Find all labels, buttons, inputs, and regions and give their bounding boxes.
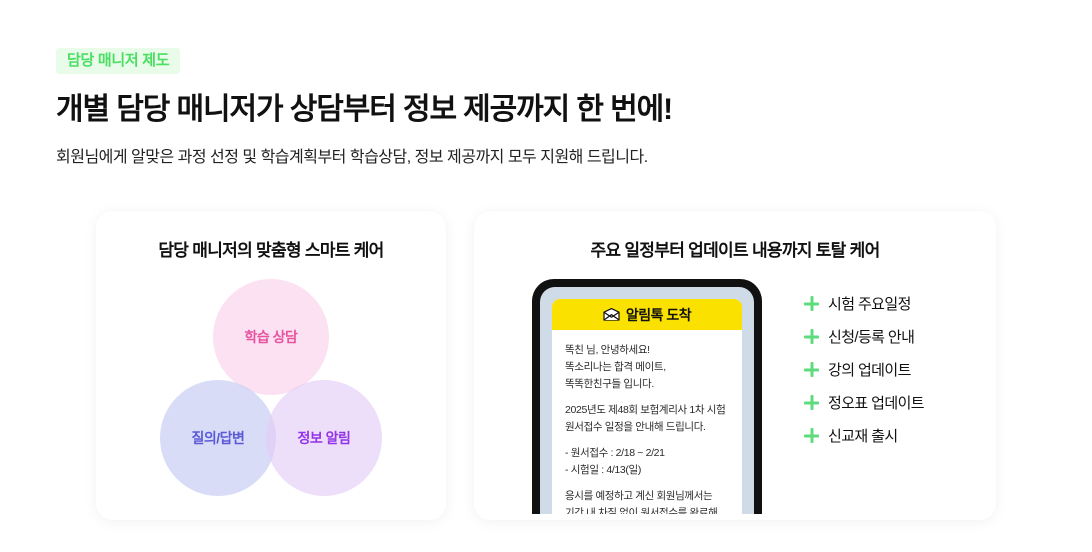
venn-circle-consulting: 학습 상담 <box>213 279 329 395</box>
alimtalk-greeting-line: 똑똑한친구들 입니다. <box>565 376 729 393</box>
list-item: 신교재 출시 <box>804 425 924 446</box>
feature-list: 시험 주요일정 신청/등록 안내 강의 업데이트 정오표 업데이트 <box>804 293 924 446</box>
alimtalk-title: 알림톡 도착 <box>626 305 691 325</box>
alimtalk-closing: 응시를 예정하고 계신 회원님께서는 기간 내 차질 없이 원서접수를 완료해 … <box>565 488 729 514</box>
feature-label: 강의 업데이트 <box>828 359 911 380</box>
venn-circle-notification: 정보 알림 <box>266 380 382 496</box>
alimtalk-closing-line: 기간 내 차질 없이 원서접수를 완료해 <box>565 505 729 514</box>
card-total-care: 주요 일정부터 업데이트 내용까지 토탈 케어 <box>474 211 996 520</box>
phone-screen: 알림톡 도착 똑친 님, 안녕하세요! 똑소리나는 합격 메이트, 똑똑한친구들… <box>540 287 754 514</box>
feature-label: 정오표 업데이트 <box>828 392 924 413</box>
alimtalk-body: 똑친 님, 안녕하세요! 똑소리나는 합격 메이트, 똑똑한친구들 입니다. 2… <box>552 330 742 514</box>
list-item: 정오표 업데이트 <box>804 392 924 413</box>
alimtalk-intro: 2025년도 제48회 보험계리사 1차 시험 원서접수 일정을 안내해 드립니… <box>565 402 729 436</box>
feature-label: 신청/등록 안내 <box>828 326 914 347</box>
alimtalk-greeting-line: 똑친 님, 안녕하세요! <box>565 342 729 359</box>
page-title: 개별 담당 매니저가 상담부터 정보 제공까지 한 번에! <box>56 91 1036 129</box>
plus-icon <box>804 395 819 410</box>
feature-label: 시험 주요일정 <box>828 293 911 314</box>
alimtalk-message-card: 알림톡 도착 똑친 님, 안녕하세요! 똑소리나는 합격 메이트, 똑똑한친구들… <box>552 299 742 514</box>
page-root: 담당 매니저 제도 개별 담당 매니저가 상담부터 정보 제공까지 한 번에! … <box>0 0 1092 552</box>
alimtalk-intro-line: 2025년도 제48회 보험계리사 1차 시험 <box>565 402 729 419</box>
plus-icon <box>804 329 819 344</box>
venn-circle-qna: 질의/답변 <box>160 380 276 496</box>
plus-icon <box>804 428 819 443</box>
plus-icon <box>804 362 819 377</box>
page-header: 담당 매니저 제도 개별 담당 매니저가 상담부터 정보 제공까지 한 번에! … <box>56 48 1036 169</box>
alimtalk-closing-line: 응시를 예정하고 계신 회원님께서는 <box>565 488 729 505</box>
alimtalk-header: 알림톡 도착 <box>552 299 742 330</box>
phone-mockup: 알림톡 도착 똑친 님, 안녕하세요! 똑소리나는 합격 메이트, 똑똑한친구들… <box>532 279 762 514</box>
envelope-icon <box>603 308 620 321</box>
alimtalk-schedule-line: - 시험일 : 4/13(일) <box>565 462 729 479</box>
alimtalk-schedule-line: - 원서접수 : 2/18 ~ 2/21 <box>565 445 729 462</box>
list-item: 신청/등록 안내 <box>804 326 924 347</box>
cards-container: 담당 매니저의 맞춤형 스마트 케어 학습 상담 질의/답변 정보 알림 주요 … <box>96 211 996 520</box>
alimtalk-schedule: - 원서접수 : 2/18 ~ 2/21 - 시험일 : 4/13(일) <box>565 445 729 479</box>
venn-label-notification: 정보 알림 <box>298 428 351 448</box>
list-item: 시험 주요일정 <box>804 293 924 314</box>
page-subtitle: 회원님에게 알맞은 과정 선정 및 학습계획부터 학습상담, 정보 제공까지 모… <box>56 147 1036 169</box>
plus-icon <box>804 296 819 311</box>
total-care-body: 알림톡 도착 똑친 님, 안녕하세요! 똑소리나는 합격 메이트, 똑똑한친구들… <box>474 279 996 499</box>
venn-label-qna: 질의/답변 <box>192 428 245 448</box>
venn-diagram: 학습 상담 질의/답변 정보 알림 <box>146 279 396 494</box>
card-smart-care-title: 담당 매니저의 맞춤형 스마트 케어 <box>96 211 446 261</box>
list-item: 강의 업데이트 <box>804 359 924 380</box>
card-total-care-title: 주요 일정부터 업데이트 내용까지 토탈 케어 <box>474 211 996 261</box>
alimtalk-greeting: 똑친 님, 안녕하세요! 똑소리나는 합격 메이트, 똑똑한친구들 입니다. <box>565 342 729 393</box>
card-smart-care: 담당 매니저의 맞춤형 스마트 케어 학습 상담 질의/답변 정보 알림 <box>96 211 446 520</box>
alimtalk-intro-line: 원서접수 일정을 안내해 드립니다. <box>565 419 729 436</box>
feature-label: 신교재 출시 <box>828 425 898 446</box>
alimtalk-greeting-line: 똑소리나는 합격 메이트, <box>565 359 729 376</box>
venn-label-consulting: 학습 상담 <box>245 327 298 347</box>
section-badge: 담당 매니저 제도 <box>56 48 180 74</box>
